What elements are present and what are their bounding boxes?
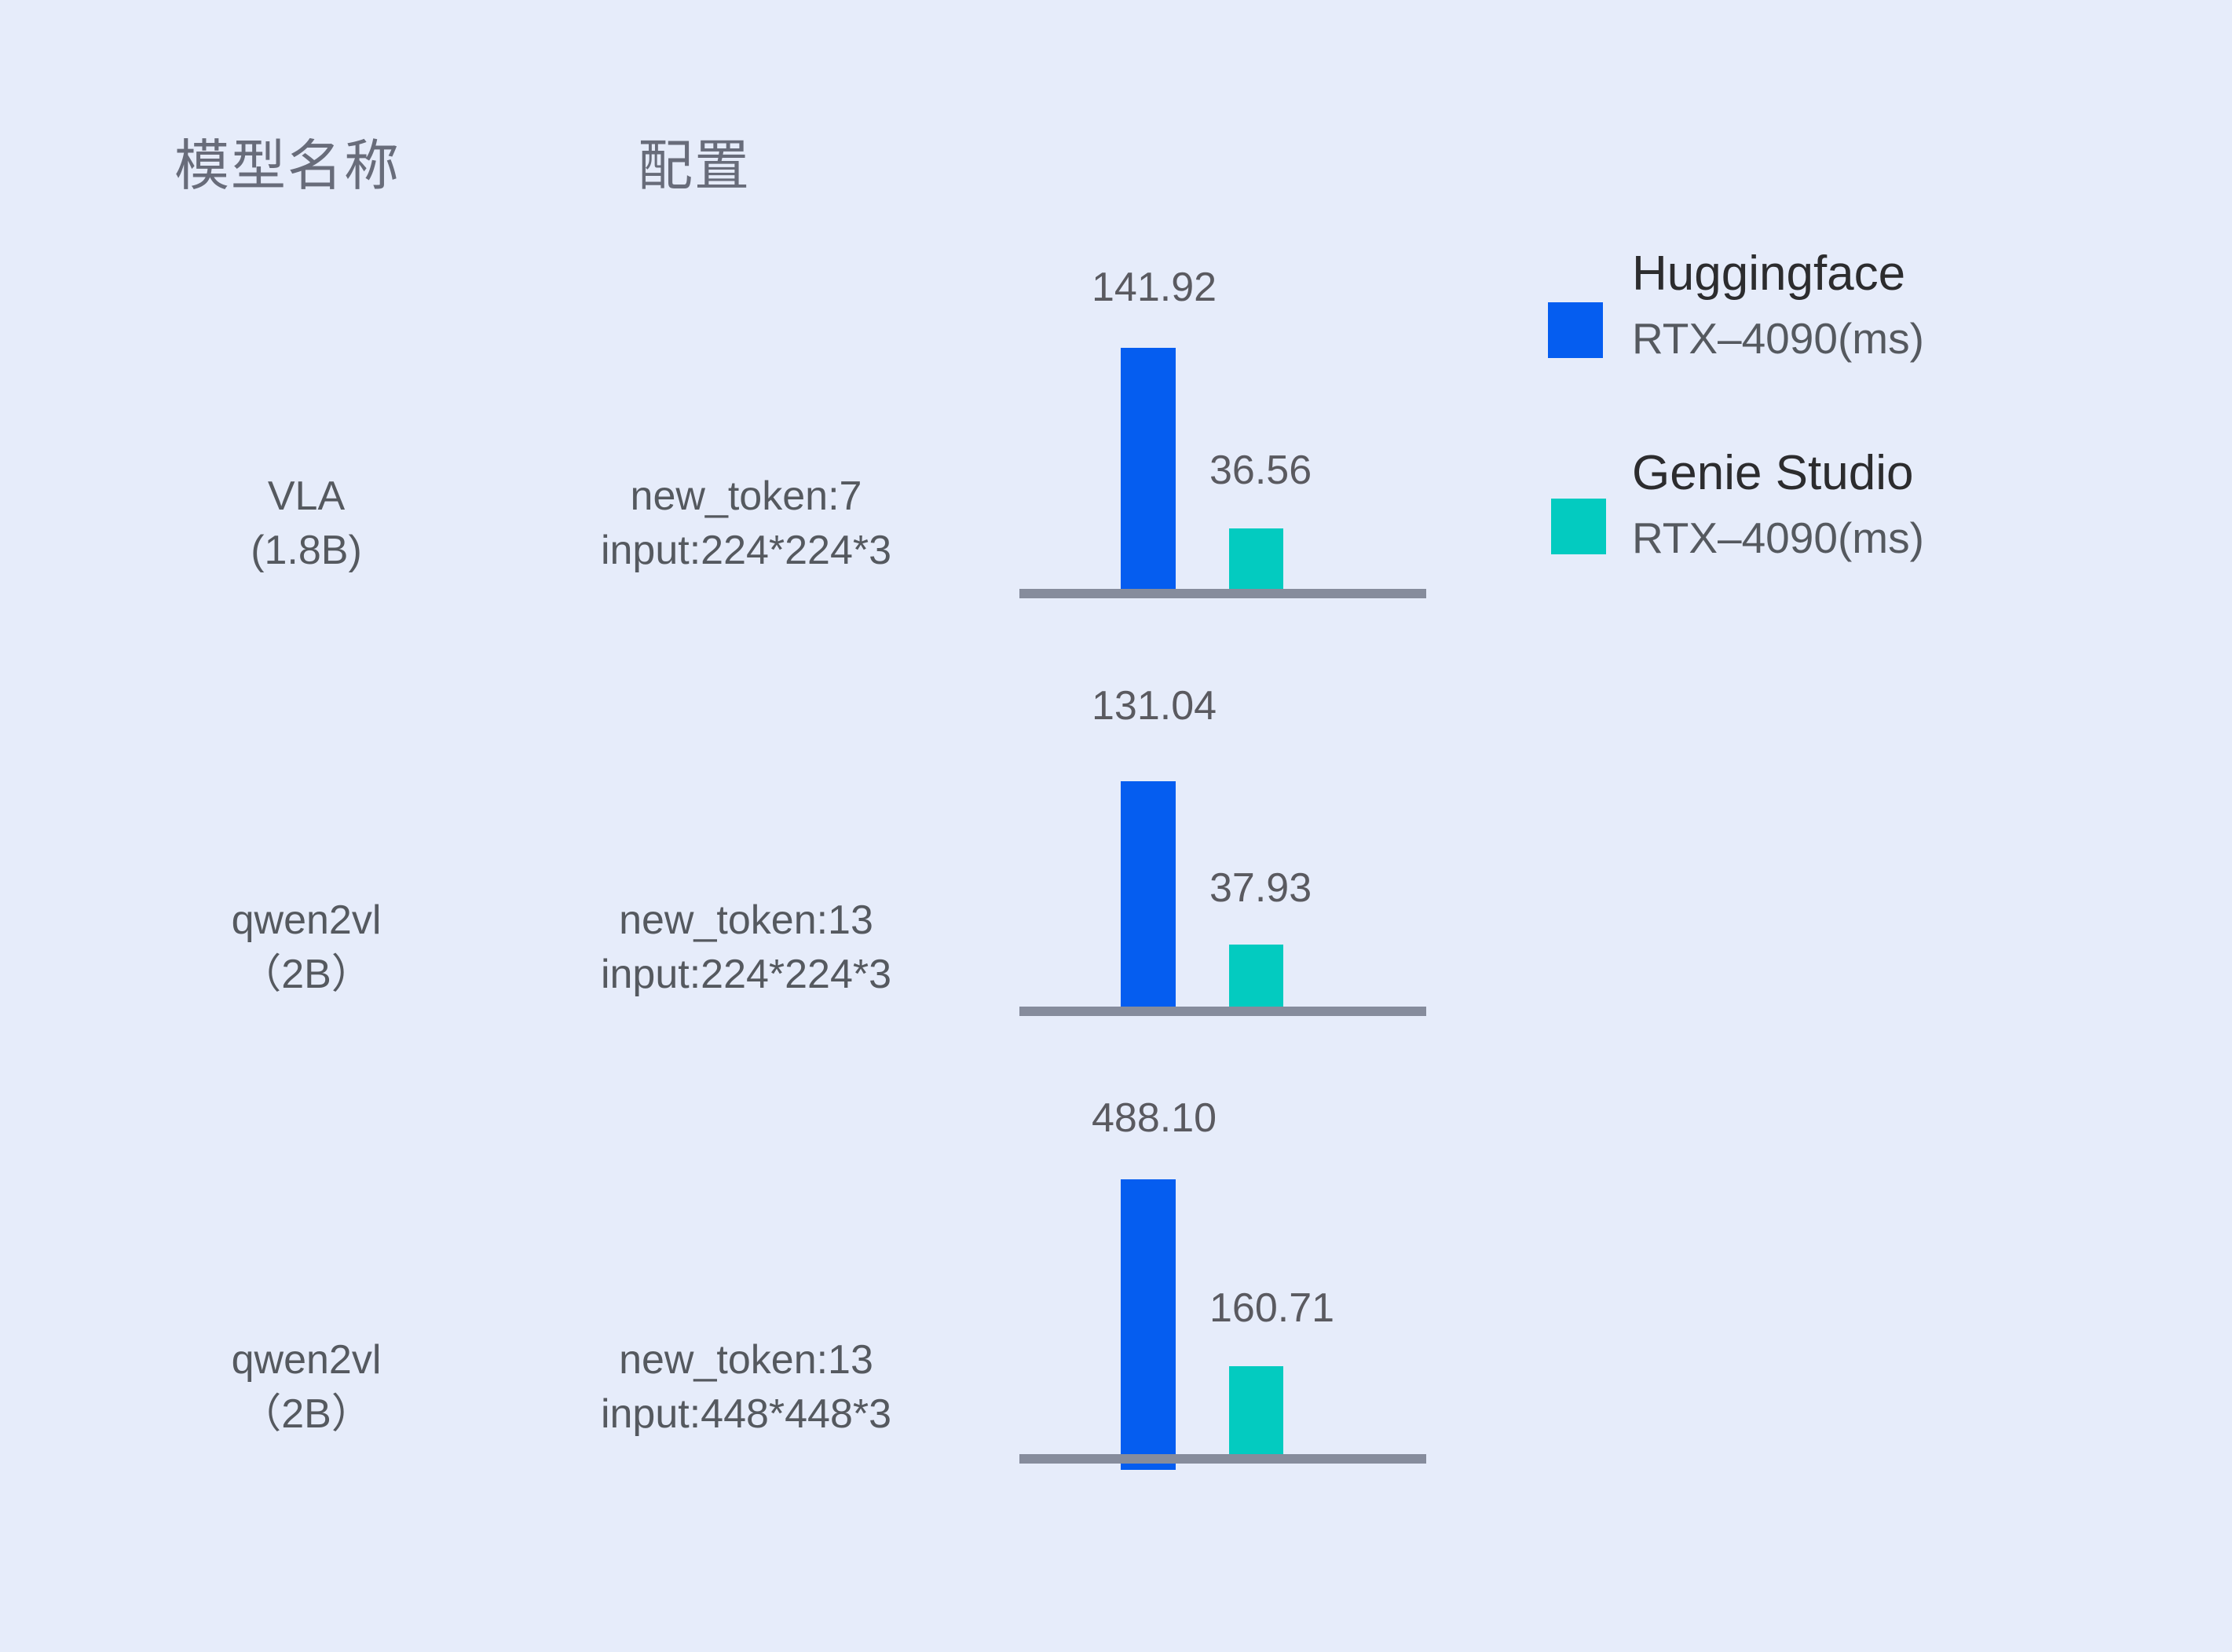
legend-swatch-teal-icon xyxy=(1551,499,1606,554)
bar-value-huggingface: 131.04 xyxy=(1092,685,1217,726)
bar-huggingface xyxy=(1121,348,1176,589)
row-config-label: new_token:13 input:224*224*3 xyxy=(503,894,990,1001)
row-model-label: qwen2vl （2B） xyxy=(141,894,471,1001)
row-model-size: （2B） xyxy=(141,1387,471,1442)
row-config-label: new_token:13 input:448*448*3 xyxy=(503,1333,990,1441)
row-model-name: qwen2vl xyxy=(232,897,382,943)
legend-subtitle: RTX–4090(ms) xyxy=(1632,317,2182,360)
column-header-model-name: 模型名称 xyxy=(174,138,401,193)
row-model-label: qwen2vl （2B） xyxy=(141,1333,471,1441)
row-model-size: （2B） xyxy=(141,948,471,1002)
row-model-size: (1.8B) xyxy=(141,524,471,578)
legend-title: Genie Studio xyxy=(1632,449,2182,498)
row-config-input: input:224*224*3 xyxy=(503,524,990,578)
bar-value-huggingface: 141.92 xyxy=(1092,267,1217,308)
bar-huggingface xyxy=(1121,1179,1176,1470)
legend-label-group: Huggingface RTX–4090(ms) xyxy=(1632,250,2182,360)
bar-genie-studio xyxy=(1229,945,1283,1007)
row-config-newtoken: new_token:13 xyxy=(619,1337,873,1383)
row-config-newtoken: new_token:13 xyxy=(619,897,873,943)
bar-value-genie-studio: 37.93 xyxy=(1209,868,1312,908)
row-config-input: input:224*224*3 xyxy=(503,948,990,1002)
row-config-input: input:448*448*3 xyxy=(503,1387,990,1442)
bar-genie-studio xyxy=(1229,1366,1283,1456)
row-model-name: VLA xyxy=(268,473,345,519)
bar-value-huggingface: 488.10 xyxy=(1092,1098,1217,1138)
legend-subtitle: RTX–4090(ms) xyxy=(1632,517,2182,560)
bar-value-genie-studio: 36.56 xyxy=(1209,450,1312,491)
chart-canvas: 模型名称 配置 VLA (1.8B) new_token:7 input:224… xyxy=(0,0,2232,1652)
column-header-config: 配置 xyxy=(638,138,751,193)
bar-genie-studio xyxy=(1229,528,1283,589)
axis-baseline xyxy=(1019,589,1426,598)
legend-title: Huggingface xyxy=(1632,250,2182,298)
bar-huggingface xyxy=(1121,781,1176,1007)
row-config-label: new_token:7 input:224*224*3 xyxy=(503,470,990,577)
axis-baseline xyxy=(1019,1007,1426,1016)
axis-baseline xyxy=(1019,1454,1426,1464)
legend-swatch-blue-icon xyxy=(1548,302,1603,358)
row-config-newtoken: new_token:7 xyxy=(631,473,862,519)
bar-value-genie-studio: 160.71 xyxy=(1209,1288,1334,1329)
legend-label-group: Genie Studio RTX–4090(ms) xyxy=(1632,449,2182,560)
row-model-name: qwen2vl xyxy=(232,1337,382,1383)
row-model-label: VLA (1.8B) xyxy=(141,470,471,577)
